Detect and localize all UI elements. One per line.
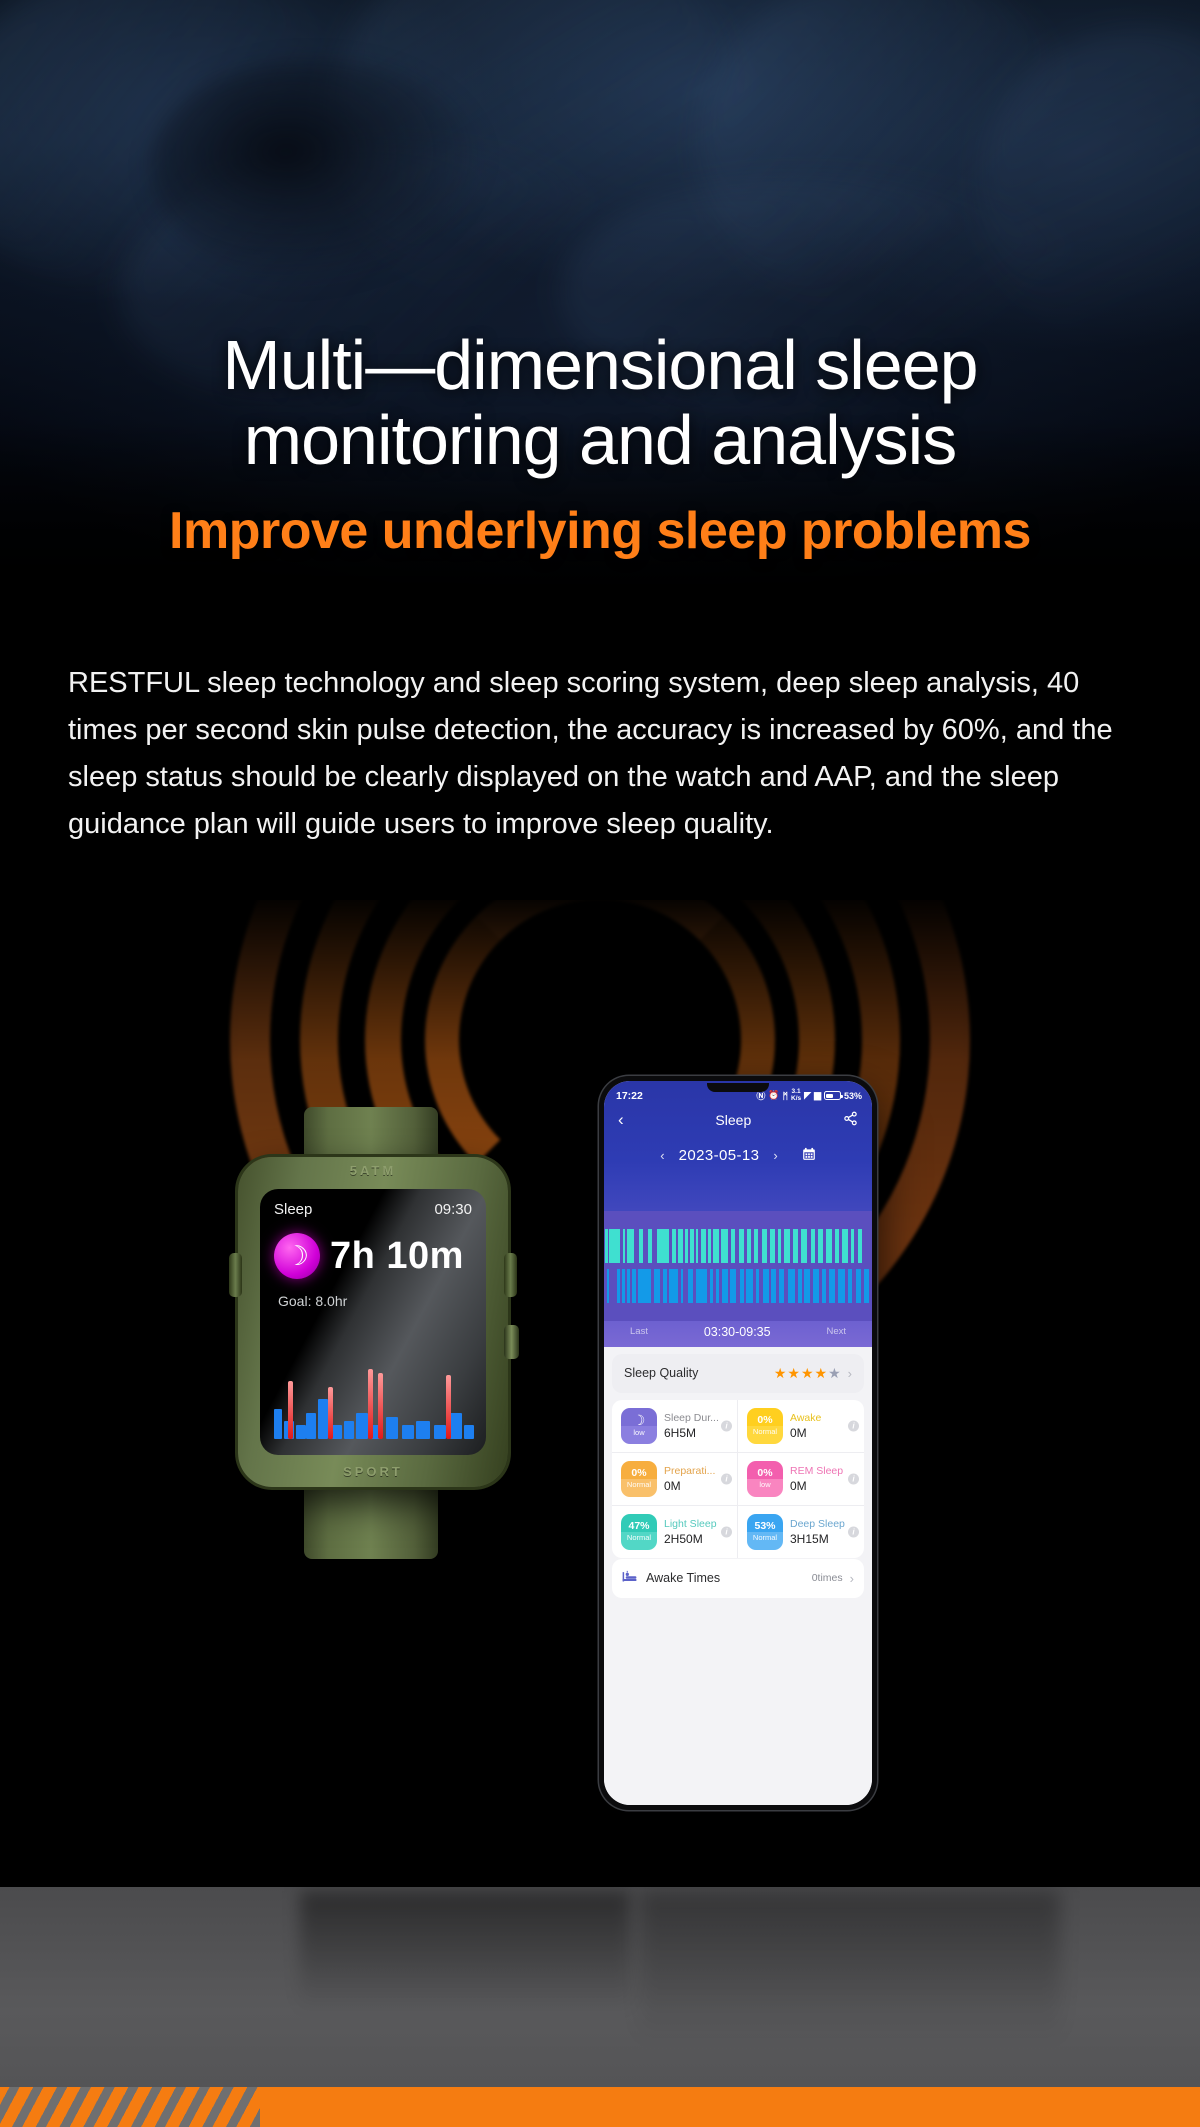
sleep-stage-bar — [798, 1269, 802, 1303]
sleep-stage-bar — [788, 1269, 796, 1303]
chevron-right-icon: › — [850, 1571, 854, 1586]
star-icon: ★ — [801, 1365, 814, 1382]
metric-cell[interactable]: 0%lowREM Sleep0Mi — [738, 1453, 864, 1506]
wifi-icon: ◤ — [804, 1090, 811, 1101]
sleep-stage-bar — [763, 1269, 770, 1303]
sleep-stage-bar — [654, 1269, 659, 1303]
chevron-right-icon: › — [848, 1366, 852, 1381]
sleep-stage-bar — [669, 1269, 679, 1303]
headline-line-2: monitoring and analysis — [0, 405, 1200, 476]
metric-badge: 0%Normal — [747, 1408, 783, 1444]
metric-badge: 53%Normal — [747, 1514, 783, 1550]
sleep-stage-bar — [663, 1269, 667, 1303]
watch-chart-bar — [356, 1413, 368, 1439]
star-icon: ★ — [787, 1365, 800, 1382]
sleep-stage-bar — [688, 1269, 692, 1303]
sleep-stage-bar — [826, 1229, 831, 1263]
metric-text: Light Sleep2H50M — [664, 1518, 717, 1546]
metric-level: low — [759, 1480, 770, 1490]
sleep-stage-bar — [710, 1269, 713, 1303]
watch-screen-header: Sleep 09:30 — [274, 1201, 472, 1218]
sleep-stage-bar — [701, 1229, 705, 1263]
date-selector: ‹ 2023-05-13 › — [604, 1139, 872, 1175]
status-bar-icons: Ⓝ ⏰ ᛗ 3.1 K/s ◤ ▆ 53% — [756, 1089, 862, 1103]
metric-cell[interactable]: ☽lowSleep Dur...6H5Mi — [612, 1400, 738, 1453]
metric-cell[interactable]: 0%NormalPreparati...0Mi — [612, 1453, 738, 1506]
sleep-stage-bar — [740, 1269, 744, 1303]
metric-value: 0M — [790, 1479, 843, 1493]
sleep-stage-bar — [747, 1229, 750, 1263]
timeline-range-bar: Last 03:30-09:35 Next — [604, 1321, 872, 1347]
status-bar-time: 17:22 — [616, 1090, 643, 1102]
metric-badge: 47%Normal — [621, 1514, 657, 1550]
sleep-quality-label: Sleep Quality — [624, 1366, 698, 1380]
sleep-stage-bar — [818, 1229, 822, 1263]
app-content: Sleep Quality ★★★★★ › ☽lowSleep Dur...6H… — [604, 1347, 872, 1805]
metric-cell[interactable]: 53%NormalDeep Sleep3H15Mi — [738, 1506, 864, 1558]
back-icon[interactable]: ‹ — [618, 1111, 624, 1128]
metric-level: Normal — [627, 1480, 651, 1490]
sleep-stage-bar — [648, 1229, 652, 1263]
data-rate-unit: K/s — [791, 1095, 801, 1102]
sleep-stage-bar — [627, 1229, 634, 1263]
sleep-stage-bar — [696, 1229, 698, 1263]
sleep-stage-bar — [657, 1229, 669, 1263]
watch-chart-bar — [416, 1421, 430, 1439]
last-night-button[interactable]: Last — [630, 1326, 648, 1337]
watch-chart-bar — [332, 1425, 342, 1439]
sleep-stage-bar — [858, 1229, 862, 1263]
sleep-stage-bar — [708, 1229, 711, 1263]
info-icon[interactable]: i — [848, 1473, 859, 1484]
smartwatch: 5ATM SPORT Sleep 09:30 ☽ 7h 10m Goal: 8.… — [238, 1135, 508, 1525]
watch-chart-bar — [386, 1417, 398, 1439]
metric-percent: 53% — [754, 1520, 775, 1533]
sleep-stage-bar — [713, 1229, 718, 1263]
metric-text: Awake0M — [790, 1412, 821, 1440]
metric-badge: ☽low — [621, 1408, 657, 1444]
sleep-stage-bar — [801, 1229, 808, 1263]
sleep-stage-bar — [829, 1269, 834, 1303]
sleep-stage-bar — [638, 1269, 651, 1303]
sleep-stage-bar — [607, 1269, 609, 1303]
sleep-stage-bar — [771, 1269, 775, 1303]
metric-cell[interactable]: 47%NormalLight Sleep2H50Mi — [612, 1506, 738, 1558]
calendar-icon[interactable] — [802, 1147, 816, 1165]
sleep-stage-bar — [622, 1269, 625, 1303]
metric-text: Preparati...0M — [664, 1465, 715, 1493]
watch-screen-title: Sleep — [274, 1201, 312, 1218]
metric-badge: 0%low — [747, 1461, 783, 1497]
metric-value: 0M — [664, 1479, 715, 1493]
watch-case: 5ATM SPORT Sleep 09:30 ☽ 7h 10m Goal: 8.… — [238, 1157, 508, 1487]
sleep-stage-bar — [730, 1269, 737, 1303]
sleep-stage-bar — [822, 1269, 826, 1303]
awake-times-value: 0times — [812, 1572, 843, 1584]
watch-sleep-duration: 7h 10m — [330, 1235, 464, 1278]
sleep-stage-bar — [690, 1229, 693, 1263]
app-header-area: 17:22 Ⓝ ⏰ ᛗ 3.1 K/s ◤ ▆ 53% ‹ — [604, 1081, 872, 1347]
metric-percent: 0% — [757, 1467, 772, 1480]
footer-diagonal-stripes — [0, 2087, 260, 2127]
watch-chart-spike — [446, 1375, 451, 1439]
sleep-stage-bar — [617, 1269, 620, 1303]
cellular-signal-icon: ▆ — [814, 1090, 821, 1101]
smartphone: 17:22 Ⓝ ⏰ ᛗ 3.1 K/s ◤ ▆ 53% ‹ — [599, 1076, 877, 1810]
phone-reflection — [640, 1891, 1060, 2041]
sleep-stage-bar — [716, 1269, 719, 1303]
metric-name: Awake — [790, 1412, 821, 1424]
sleep-stage-bar — [627, 1269, 630, 1303]
sleep-stage-bar — [848, 1269, 852, 1303]
footer-orange-bar — [0, 2087, 1200, 2127]
watch-chart-spike — [378, 1373, 383, 1439]
star-icon: ★ — [774, 1365, 787, 1382]
moon-icon: ☽ — [274, 1233, 320, 1279]
sleep-stage-bar — [838, 1269, 845, 1303]
prev-day-button[interactable]: ‹ — [660, 1148, 664, 1163]
sleep-stage-bar — [623, 1229, 625, 1263]
sleep-stage-bar — [835, 1229, 839, 1263]
watch-sleep-chart — [270, 1355, 476, 1439]
info-icon[interactable]: i — [721, 1473, 732, 1484]
sleep-stage-bar — [605, 1229, 608, 1263]
share-icon[interactable] — [843, 1111, 858, 1129]
watch-chart-bar — [318, 1399, 328, 1439]
app-navbar: ‹ Sleep — [604, 1105, 872, 1139]
watch-bottom-bezel-label: SPORT — [238, 1464, 508, 1479]
sleep-stage-bar — [856, 1269, 861, 1303]
page-title: Multi—dimensional sleep monitoring and a… — [0, 330, 1200, 477]
body-paragraph: RESTFUL sleep technology and sleep scori… — [68, 660, 1138, 848]
metric-percent: 0% — [757, 1414, 772, 1427]
metric-level: Normal — [753, 1427, 777, 1437]
sleep-stage-bar — [639, 1229, 643, 1263]
watch-top-bezel-label: 5ATM — [238, 1163, 508, 1178]
watch-crown-button[interactable] — [504, 1325, 519, 1359]
watch-screen[interactable]: Sleep 09:30 ☽ 7h 10m Goal: 8.0hr — [260, 1189, 486, 1455]
sleep-quality-stars: ★★★★★ — [774, 1365, 841, 1382]
sleep-stage-bar — [756, 1269, 759, 1303]
watch-chart-bar — [450, 1413, 462, 1439]
awake-times-label: Awake Times — [646, 1571, 812, 1585]
watch-chart-bar — [296, 1425, 306, 1439]
watch-chart-bar — [306, 1413, 316, 1439]
watch-screen-time: 09:30 — [434, 1201, 472, 1218]
metric-level: Normal — [753, 1533, 777, 1543]
sleep-stage-bar — [804, 1269, 809, 1303]
sleep-stage-bar — [681, 1269, 683, 1303]
awake-times-row[interactable]: Awake Times 0times › — [612, 1559, 864, 1598]
watch-chart-bar — [402, 1425, 414, 1439]
phone-notch — [707, 1083, 769, 1092]
metric-percent: 47% — [628, 1520, 649, 1533]
watch-chart-spike — [328, 1387, 333, 1439]
watch-sleep-goal: Goal: 8.0hr — [278, 1293, 347, 1309]
sleep-stage-bar — [793, 1229, 797, 1263]
metric-value: 0M — [790, 1426, 821, 1440]
bluetooth-icon: ᛗ — [783, 1091, 788, 1101]
phone-screen: 17:22 Ⓝ ⏰ ᛗ 3.1 K/s ◤ ▆ 53% ‹ — [604, 1081, 872, 1805]
watch-chart-spike — [368, 1369, 373, 1439]
star-icon: ★ — [815, 1365, 828, 1382]
sleep-stage-bar — [864, 1269, 868, 1303]
sleep-metrics-grid: ☽lowSleep Dur...6H5Mi0%NormalAwake0Mi0%N… — [612, 1400, 864, 1558]
sleep-stage-bar — [696, 1269, 707, 1303]
next-day-button[interactable]: › — [773, 1148, 777, 1163]
sleep-stage-bar — [721, 1229, 728, 1263]
watch-chart-bar — [274, 1409, 282, 1439]
headline-block: Multi—dimensional sleep monitoring and a… — [0, 330, 1200, 561]
sleep-stage-bar — [811, 1229, 815, 1263]
sleep-quality-row[interactable]: Sleep Quality ★★★★★ › — [612, 1354, 864, 1393]
sleep-stage-bar — [778, 1229, 781, 1263]
sleep-stage-bar — [779, 1269, 784, 1303]
info-icon[interactable]: i — [721, 1420, 732, 1431]
battery-icon — [824, 1091, 841, 1100]
data-rate-indicator: 3.1 K/s — [791, 1089, 801, 1103]
watch-reflection — [300, 1891, 630, 2011]
alarm-icon: ⏰ — [768, 1090, 779, 1101]
sleep-stage-bar — [678, 1229, 682, 1263]
moon-icon: ☽ — [633, 1413, 646, 1428]
sleep-stage-chart — [604, 1211, 872, 1321]
metric-name: Light Sleep — [664, 1518, 717, 1530]
sleep-stage-bar — [739, 1229, 744, 1263]
watch-chart-bar — [434, 1425, 446, 1439]
metric-value: 6H5M — [664, 1426, 719, 1440]
product-platform — [0, 1887, 1200, 2087]
metric-text: Deep Sleep3H15M — [790, 1518, 845, 1546]
sleep-stage-bar — [731, 1229, 735, 1263]
sleep-stage-bar — [617, 1229, 620, 1263]
battery-percent-label: 53% — [844, 1091, 862, 1101]
metric-name: Preparati... — [664, 1465, 715, 1477]
watch-chart-bar — [464, 1425, 474, 1439]
metric-value: 2H50M — [664, 1532, 717, 1546]
metric-value: 3H15M — [790, 1532, 845, 1546]
sleep-stage-bar — [754, 1229, 758, 1263]
sleep-stage-bar — [770, 1229, 774, 1263]
metric-percent: 0% — [631, 1467, 646, 1480]
sleep-stage-bar — [784, 1229, 789, 1263]
watch-chart-bar — [344, 1421, 354, 1439]
sleep-stage-bar — [672, 1229, 676, 1263]
headline-line-1: Multi—dimensional sleep — [222, 326, 977, 404]
star-icon: ★ — [828, 1365, 841, 1382]
info-icon[interactable]: i — [848, 1420, 859, 1431]
sleep-stage-bar — [685, 1229, 688, 1263]
sleep-time-range: 03:30-09:35 — [704, 1325, 771, 1339]
sleep-stage-bar — [762, 1229, 767, 1263]
metric-level: Normal — [627, 1533, 651, 1543]
metric-name: REM Sleep — [790, 1465, 843, 1477]
bed-icon — [622, 1570, 637, 1587]
sleep-stage-bar — [746, 1269, 753, 1303]
metric-cell[interactable]: 0%NormalAwake0Mi — [738, 1400, 864, 1453]
metric-level: low — [633, 1428, 644, 1438]
info-icon[interactable]: i — [848, 1526, 859, 1537]
metric-text: REM Sleep0M — [790, 1465, 843, 1493]
metric-name: Deep Sleep — [790, 1518, 845, 1530]
subheadline: Improve underlying sleep problems — [0, 501, 1200, 561]
watch-chart-spike — [288, 1381, 293, 1439]
metric-text: Sleep Dur...6H5M — [664, 1412, 719, 1440]
sleep-stage-bar — [851, 1229, 854, 1263]
sleep-stage-bar — [813, 1269, 820, 1303]
info-icon[interactable]: i — [721, 1526, 732, 1537]
metric-badge: 0%Normal — [621, 1461, 657, 1497]
sleep-stage-bar — [842, 1229, 847, 1263]
metric-name: Sleep Dur... — [664, 1412, 719, 1424]
app-title: Sleep — [715, 1112, 751, 1128]
selected-date: 2023-05-13 — [679, 1147, 760, 1164]
sleep-stage-bar — [722, 1269, 727, 1303]
sleep-stage-bar — [632, 1269, 635, 1303]
next-night-button[interactable]: Next — [826, 1326, 846, 1337]
